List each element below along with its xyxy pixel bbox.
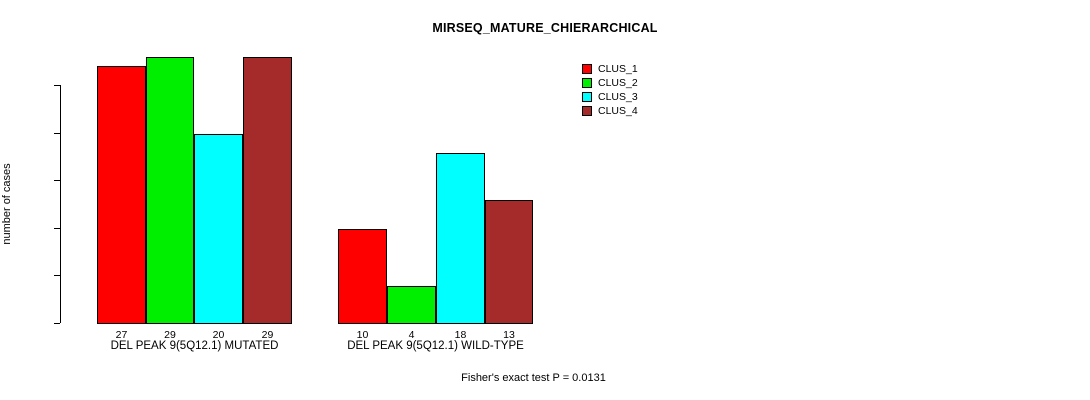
bar-group2-clus3[interactable] bbox=[436, 153, 485, 324]
y-axis-line bbox=[60, 85, 61, 323]
legend-label-clus1: CLUS_1 bbox=[598, 64, 638, 74]
y-tick-5 bbox=[54, 275, 60, 276]
y-axis-label: number of cases bbox=[1, 163, 13, 244]
legend-item-clus4[interactable]: CLUS_4 bbox=[582, 104, 638, 118]
y-tick-25 bbox=[54, 85, 60, 86]
y-tick-15 bbox=[54, 180, 60, 181]
y-tick-10 bbox=[54, 228, 60, 229]
y-tick-20 bbox=[54, 133, 60, 134]
fisher-test-text: Fisher's exact test P = 0.0131 bbox=[461, 372, 606, 384]
legend-item-clus3[interactable]: CLUS_3 bbox=[582, 90, 638, 104]
legend-swatch-icon-clus1 bbox=[582, 64, 592, 74]
legend: CLUS_1 CLUS_2 CLUS_3 CLUS_4 bbox=[582, 62, 638, 118]
footer-note: Fisher's exact test P = 0.0131 bbox=[0, 372, 1090, 384]
legend-swatch-icon-clus3 bbox=[582, 92, 592, 102]
bar-group1-clus4[interactable] bbox=[243, 57, 292, 324]
plot-area: 0 5 10 15 20 25 number of cases 27 29 20… bbox=[0, 0, 560, 400]
legend-swatch-icon-clus2 bbox=[582, 78, 592, 88]
legend-item-clus1[interactable]: CLUS_1 bbox=[582, 62, 638, 76]
bar-group1-clus3[interactable] bbox=[194, 134, 243, 324]
y-tick-0 bbox=[54, 323, 60, 324]
bar-group2-clus2[interactable] bbox=[387, 286, 436, 324]
bar-group2-clus4[interactable] bbox=[485, 200, 533, 324]
legend-label-clus4: CLUS_4 bbox=[598, 106, 638, 116]
bar-group1-clus1[interactable] bbox=[97, 66, 146, 324]
legend-label-clus2: CLUS_2 bbox=[598, 78, 638, 88]
legend-swatch-icon-clus4 bbox=[582, 106, 592, 116]
legend-label-clus3: CLUS_3 bbox=[598, 92, 638, 102]
bar-group1-clus2[interactable] bbox=[146, 57, 194, 324]
bar-group2-clus1[interactable] bbox=[338, 229, 387, 324]
chart-canvas: MIRSEQ_MATURE_CHIERARCHICAL 0 5 10 15 20… bbox=[0, 0, 1090, 400]
group-label-wildtype: DEL PEAK 9(5Q12.1) WILD-TYPE bbox=[288, 340, 583, 352]
y-axis-label-wrap: number of cases bbox=[0, 85, 20, 323]
legend-item-clus2[interactable]: CLUS_2 bbox=[582, 76, 638, 90]
